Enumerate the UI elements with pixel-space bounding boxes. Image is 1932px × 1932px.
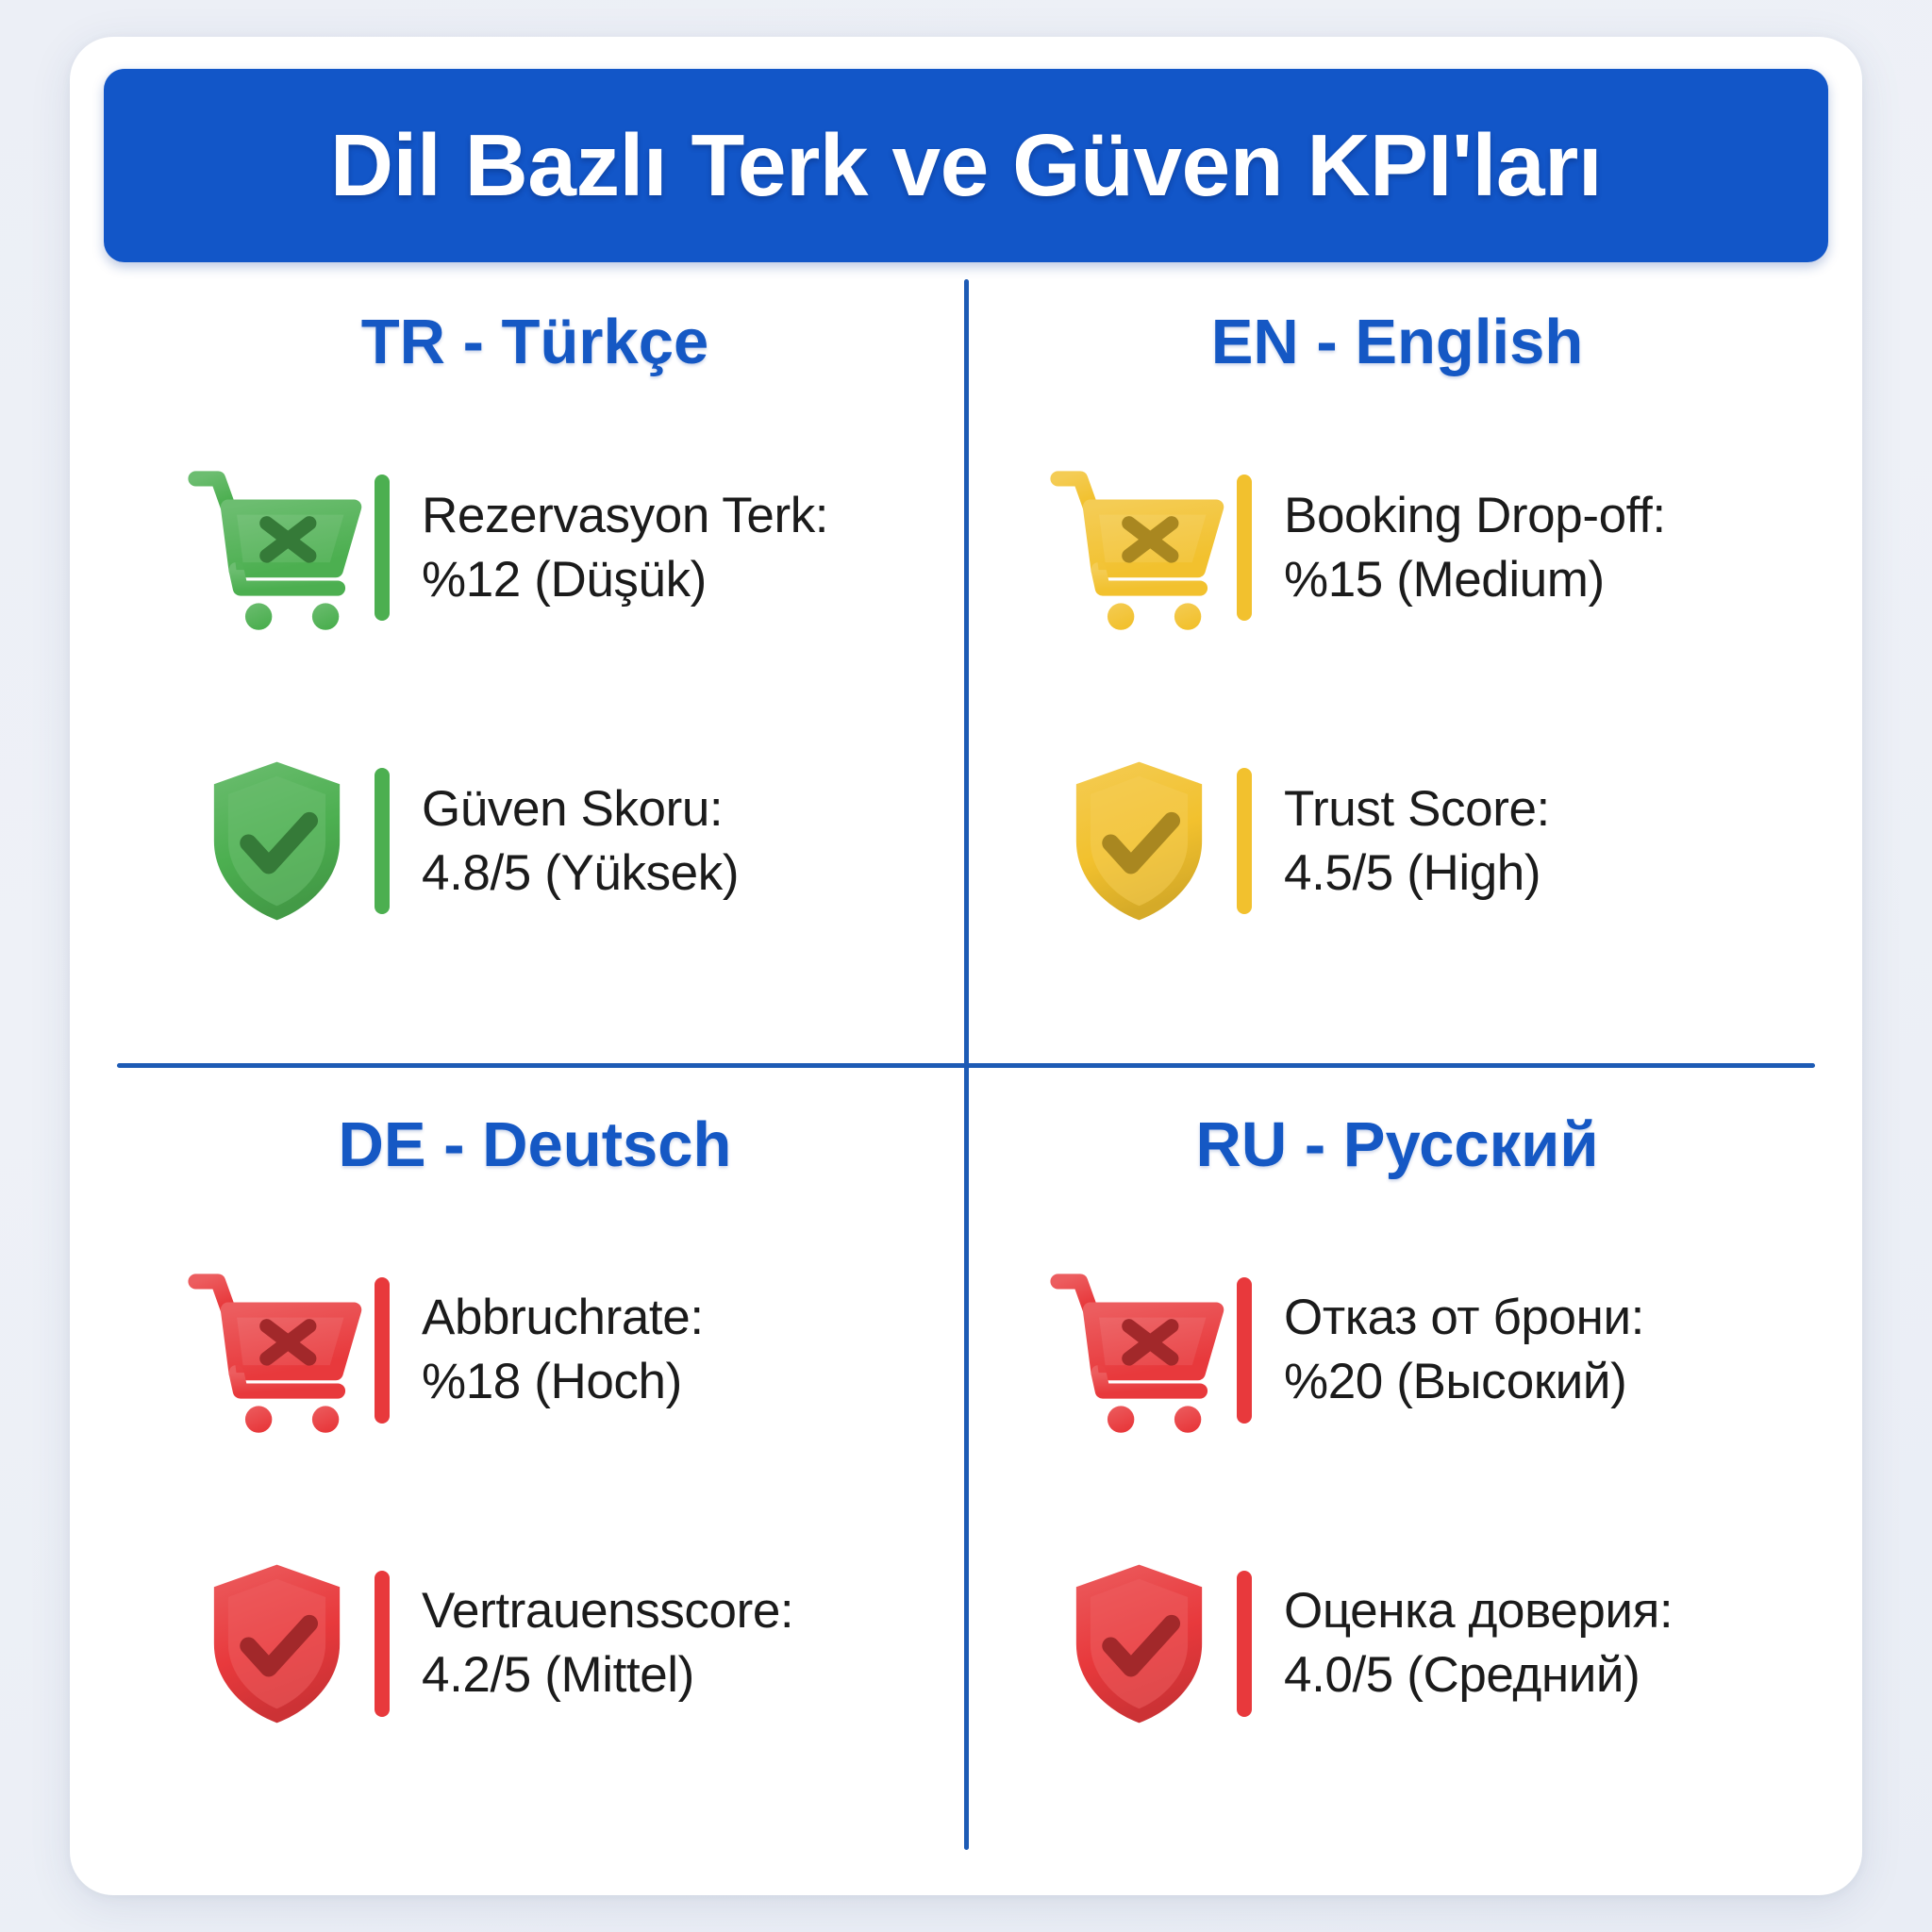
kpi-accent-bar [1237, 1571, 1252, 1717]
kpi-text: Rezervasyon Terk:%12 (Düşük) [422, 484, 828, 612]
kpi-label: Оценка доверия: [1284, 1579, 1673, 1643]
page-title: Dil Bazlı Terk ve Güven KPI'ları [330, 115, 1602, 216]
kpi-row: Vertrauensscore:4.2/5 (Mittel) [175, 1542, 923, 1745]
horizontal-divider [117, 1063, 1815, 1068]
kpi-value: %20 (Высокий) [1284, 1350, 1644, 1414]
kpi-text: Abbruchrate:%18 (Hoch) [422, 1286, 704, 1414]
kpi-label: Rezervasyon Terk: [422, 484, 828, 548]
kpi-label: Trust Score: [1284, 777, 1550, 841]
infographic-canvas: Dil Bazlı Terk ve Güven KPI'ları TR - Tü… [0, 0, 1932, 1932]
kpi-value: 4.2/5 (Mittel) [422, 1643, 793, 1707]
quadrant-ru: RU - Русский [966, 1065, 1828, 1868]
kpi-row: Trust Score:4.5/5 (High) [1038, 740, 1785, 942]
quadrant-tr: TR - Türkçe [104, 262, 966, 1065]
quadrant-title-ru: RU - Русский [1195, 1108, 1598, 1181]
kpi-accent-bar [375, 1277, 390, 1424]
quadrant-grid: TR - Türkçe [104, 262, 1828, 1867]
kpi-accent-bar [375, 768, 390, 914]
kpi-list-de: Abbruchrate:%18 (Hoch) Vertrauensscore:4… [147, 1249, 923, 1745]
kpi-text: Оценка доверия:4.0/5 (Средний) [1284, 1579, 1673, 1707]
shield-check-icon [175, 1542, 378, 1745]
kpi-row: Güven Skoru:4.8/5 (Yüksek) [175, 740, 923, 942]
quadrant-en: EN - English [966, 262, 1828, 1065]
kpi-label: Abbruchrate: [422, 1286, 704, 1350]
kpi-value: 4.8/5 (Yüksek) [422, 841, 739, 906]
kpi-label: Отказ от брони: [1284, 1286, 1644, 1350]
kpi-value: %12 (Düşük) [422, 548, 828, 612]
kpi-text: Booking Drop-off:%15 (Medium) [1284, 484, 1666, 612]
kpi-list-en: Booking Drop-off:%15 (Medium) Trust Scor… [1009, 446, 1785, 942]
kpi-accent-bar [1237, 768, 1252, 914]
kpi-text: Güven Skoru:4.8/5 (Yüksek) [422, 777, 739, 906]
quadrant-de: DE - Deutsch [104, 1065, 966, 1868]
kpi-list-tr: Rezervasyon Terk:%12 (Düşük) Güven Skoru… [147, 446, 923, 942]
quadrant-title-en: EN - English [1211, 306, 1584, 378]
kpi-text: Vertrauensscore:4.2/5 (Mittel) [422, 1579, 793, 1707]
cart-x-icon [175, 1249, 378, 1452]
kpi-card: Dil Bazlı Terk ve Güven KPI'ları TR - Tü… [70, 37, 1862, 1895]
kpi-accent-bar [375, 1571, 390, 1717]
kpi-value: 4.0/5 (Средний) [1284, 1643, 1673, 1707]
kpi-row: Отказ от брони:%20 (Высокий) [1038, 1249, 1785, 1452]
cart-x-icon [175, 446, 378, 649]
kpi-label: Booking Drop-off: [1284, 484, 1666, 548]
kpi-list-ru: Отказ от брони:%20 (Высокий) Оценка дове… [1009, 1249, 1785, 1745]
kpi-label: Güven Skoru: [422, 777, 739, 841]
kpi-accent-bar [375, 475, 390, 621]
cart-x-icon [1038, 1249, 1241, 1452]
kpi-text: Trust Score:4.5/5 (High) [1284, 777, 1550, 906]
kpi-accent-bar [1237, 1277, 1252, 1424]
kpi-label: Vertrauensscore: [422, 1579, 793, 1643]
header-banner: Dil Bazlı Terk ve Güven KPI'ları [104, 69, 1828, 262]
kpi-accent-bar [1237, 475, 1252, 621]
quadrant-title-de: DE - Deutsch [339, 1108, 732, 1181]
kpi-row: Abbruchrate:%18 (Hoch) [175, 1249, 923, 1452]
cart-x-icon [1038, 446, 1241, 649]
quadrant-title-tr: TR - Türkçe [361, 306, 709, 378]
kpi-text: Отказ от брони:%20 (Высокий) [1284, 1286, 1644, 1414]
kpi-value: 4.5/5 (High) [1284, 841, 1550, 906]
kpi-row: Booking Drop-off:%15 (Medium) [1038, 446, 1785, 649]
kpi-row: Rezervasyon Terk:%12 (Düşük) [175, 446, 923, 649]
shield-check-icon [1038, 1542, 1241, 1745]
kpi-row: Оценка доверия:4.0/5 (Средний) [1038, 1542, 1785, 1745]
kpi-value: %15 (Medium) [1284, 548, 1666, 612]
kpi-value: %18 (Hoch) [422, 1350, 704, 1414]
shield-check-icon [1038, 740, 1241, 942]
shield-check-icon [175, 740, 378, 942]
